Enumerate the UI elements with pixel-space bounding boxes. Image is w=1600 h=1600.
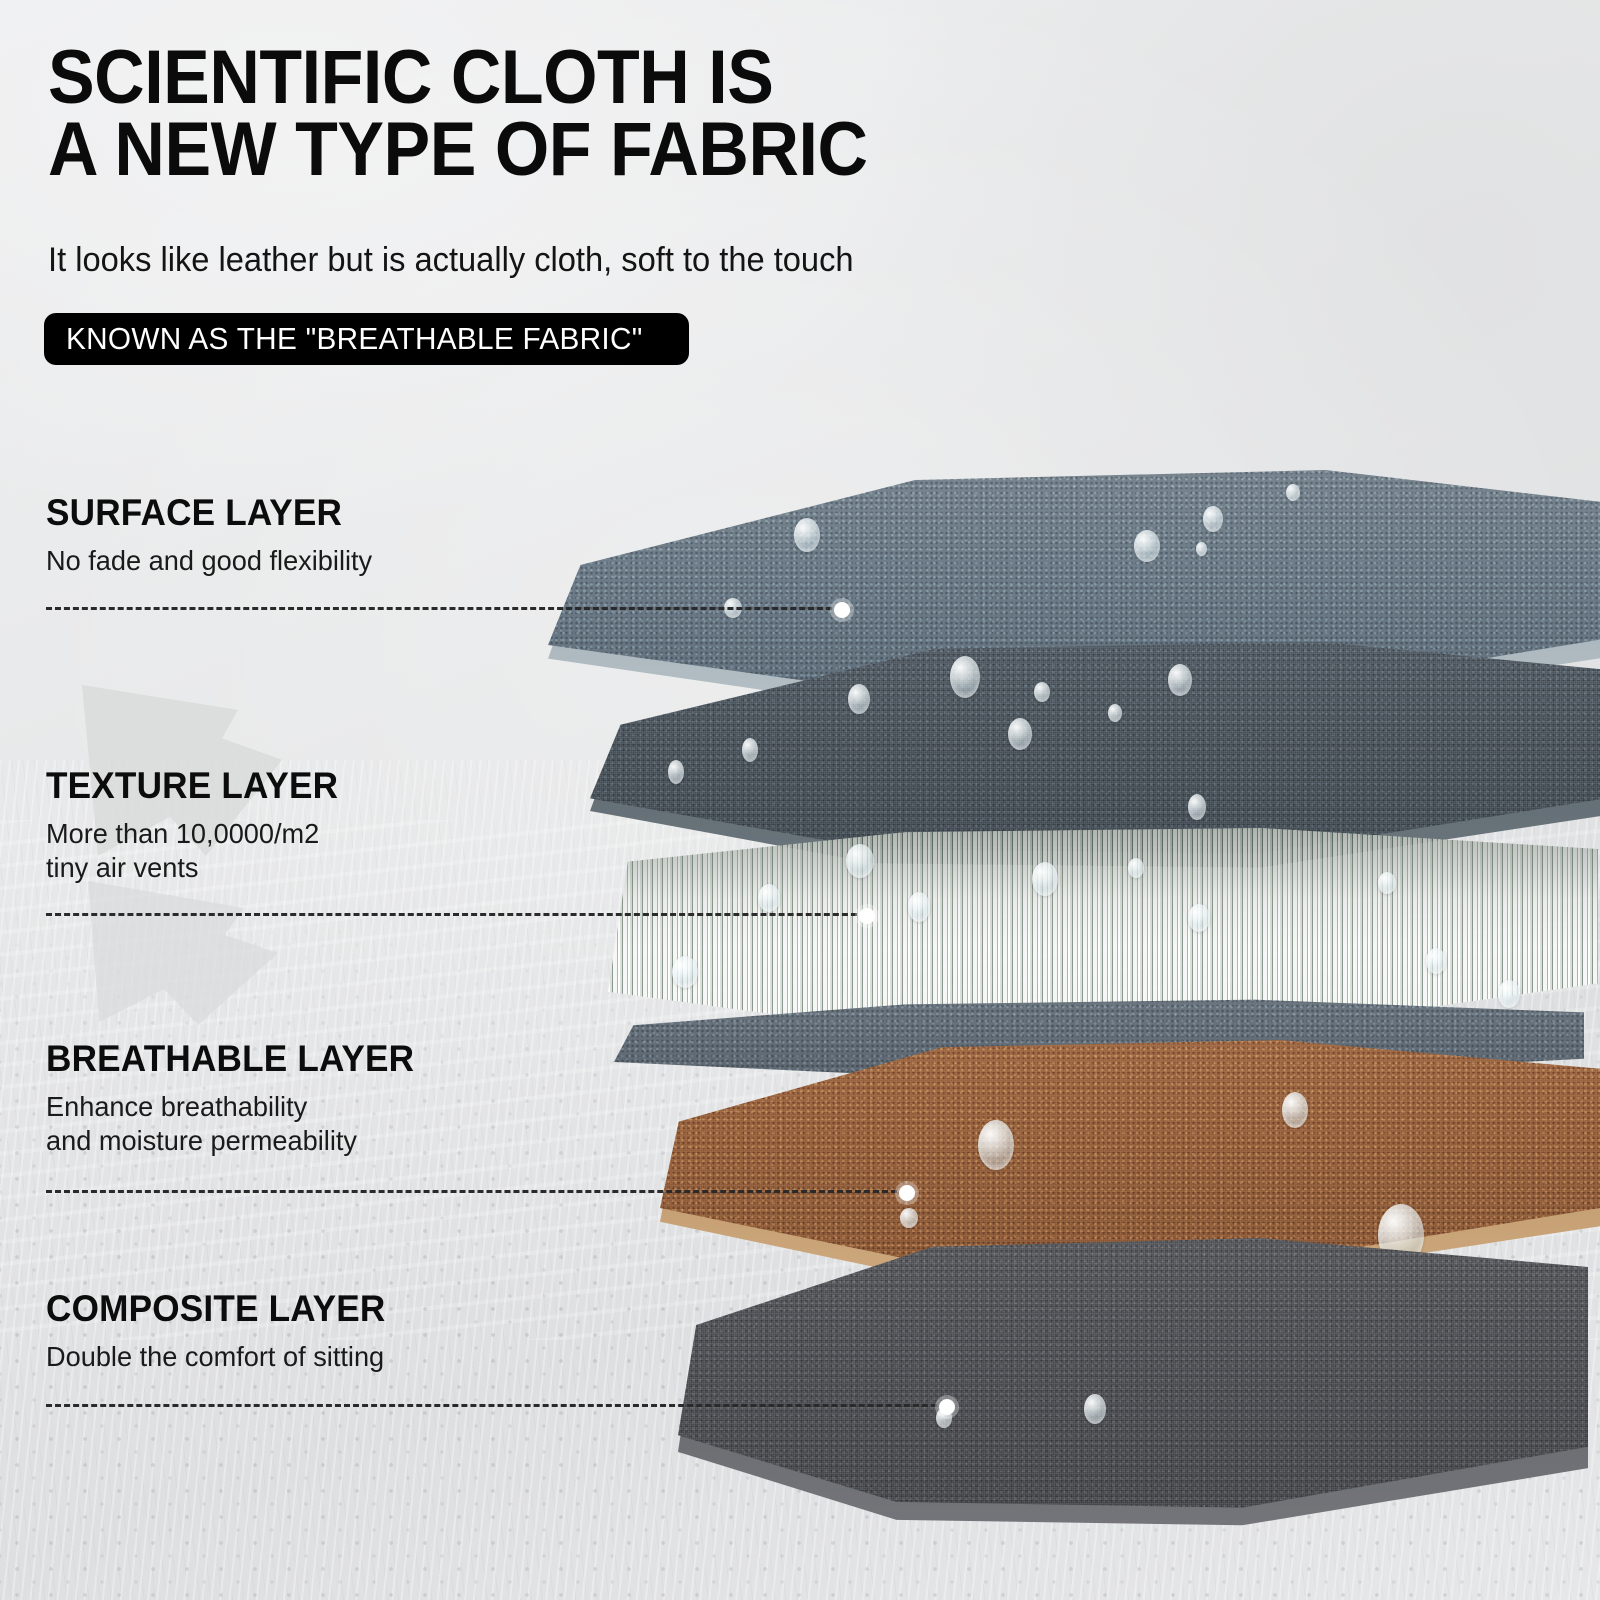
water-droplet	[950, 656, 980, 698]
layer-sheet-composite	[678, 1238, 1588, 1528]
surface-layer-description: No fade and good flexibility	[46, 544, 372, 578]
water-droplet	[1032, 862, 1058, 896]
water-droplet	[794, 518, 820, 552]
leader-endpoint-dot	[834, 602, 850, 618]
water-droplet	[900, 1208, 918, 1228]
surface-layer-heading: SURFACE LAYER	[46, 492, 365, 534]
water-droplet	[1188, 794, 1206, 820]
water-droplet	[1134, 530, 1160, 562]
leader-endpoint-dot	[939, 1399, 955, 1415]
leader-endpoint-dot	[859, 908, 875, 924]
texture-layer-heading: TEXTURE LAYER	[46, 765, 338, 807]
exploded-fabric-illustration	[0, 420, 1600, 1600]
composite-layer-description: Double the comfort of sitting	[46, 1340, 393, 1374]
caption-composite-layer: COMPOSITE LAYER Double the comfort of si…	[46, 1288, 403, 1374]
status-badge: KNOWN AS THE "BREATHABLE FABRIC"	[44, 313, 689, 365]
water-droplet	[1426, 948, 1446, 974]
breathable-layer-heading: BREATHABLE LAYER	[46, 1038, 414, 1080]
leader-line-surface-layer	[46, 607, 841, 610]
leader-line-composite-layer	[46, 1404, 946, 1407]
water-droplet	[1378, 872, 1396, 894]
infographic-canvas: SCIENTIFIC CLOTH IS A NEW TYPE OF FABRIC…	[0, 0, 1600, 1600]
water-droplet	[1168, 664, 1192, 696]
leader-endpoint-dot	[899, 1185, 915, 1201]
caption-texture-layer: TEXTURE LAYER More than 10,0000/m2 tiny …	[46, 765, 354, 885]
page-subtitle: It looks like leather but is actually cl…	[48, 240, 854, 280]
composite-layer-heading: COMPOSITE LAYER	[46, 1288, 385, 1330]
water-droplet	[978, 1120, 1014, 1170]
breathable-layer-description: Enhance breathability and moisture perme…	[46, 1090, 422, 1158]
water-droplet	[848, 684, 870, 714]
water-droplet	[1108, 704, 1122, 722]
texture-layer-description: More than 10,0000/m2 tiny air vents	[46, 817, 344, 885]
leader-line-breathable-layer	[46, 1190, 906, 1193]
status-badge-label: KNOWN AS THE "BREATHABLE FABRIC"	[66, 321, 643, 357]
airflow-arrow-lower	[88, 875, 278, 1025]
caption-surface-layer: SURFACE LAYER No fade and good flexibili…	[46, 492, 382, 578]
water-droplet	[1008, 718, 1032, 750]
water-droplet	[672, 956, 698, 988]
water-droplet	[758, 884, 780, 912]
water-droplet	[1286, 484, 1300, 501]
water-droplet	[1203, 506, 1223, 532]
leader-line-texture-layer	[46, 913, 866, 916]
water-droplet	[742, 738, 758, 762]
page-title: SCIENTIFIC CLOTH IS A NEW TYPE OF FABRIC	[48, 42, 1014, 186]
water-droplet	[1034, 682, 1050, 702]
caption-breathable-layer: BREATHABLE LAYER Enhance breathability a…	[46, 1038, 434, 1158]
water-droplet	[1196, 542, 1207, 556]
water-droplet	[908, 892, 930, 922]
water-droplet	[1128, 858, 1144, 878]
water-droplet	[1084, 1394, 1106, 1424]
water-droplet	[1188, 904, 1210, 932]
water-droplet	[668, 760, 684, 784]
water-droplet	[1282, 1092, 1308, 1128]
water-droplet	[846, 844, 874, 878]
